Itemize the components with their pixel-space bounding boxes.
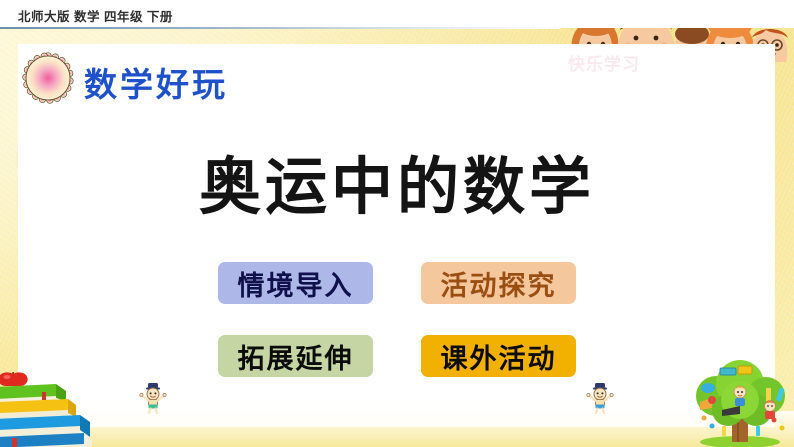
tree-kid-1	[734, 386, 746, 406]
nav-button-row-2: 拓展延伸 课外活动	[0, 335, 794, 377]
header-bar: 北师大版 数学 四年级 下册	[0, 0, 794, 28]
apple-icon	[0, 372, 28, 386]
cheering-kid-icon-right	[585, 382, 615, 414]
section-title: 数学好玩	[84, 58, 228, 106]
nav-button-grid: 情境导入 活动探究 拓展延伸 课外活动	[0, 262, 794, 408]
flower-badge-icon	[22, 52, 74, 104]
breadcrumb: 北师大版 数学 四年级 下册	[18, 6, 173, 25]
school-tree-illustration	[682, 358, 794, 447]
tree-kid-2	[764, 401, 776, 420]
btn-activity-explore[interactable]: 活动探究	[421, 262, 576, 304]
cheering-kid-icon-left	[138, 382, 168, 414]
books-and-apple-illustration	[0, 372, 104, 447]
btn-situation-intro[interactable]: 情境导入	[218, 262, 373, 304]
page-title: 奥运中的数学	[0, 136, 794, 226]
slide-canvas: 快乐学习 北师大版 数学 四年级 下册	[0, 0, 794, 447]
btn-extracurricular[interactable]: 课外活动	[421, 335, 576, 377]
btn-extension[interactable]: 拓展延伸	[218, 335, 373, 377]
nav-button-row-1: 情境导入 活动探究	[0, 262, 794, 304]
header-divider	[0, 27, 560, 29]
